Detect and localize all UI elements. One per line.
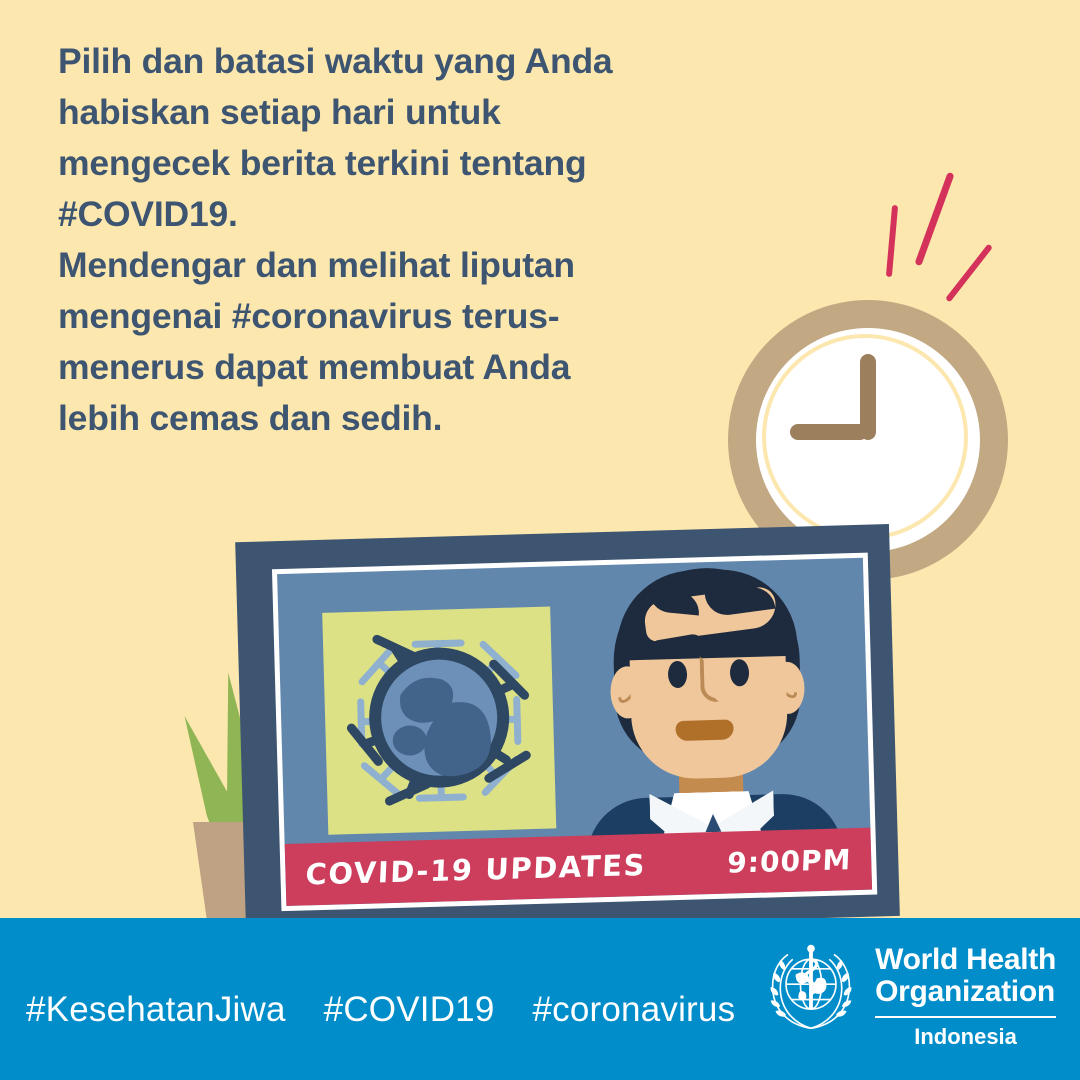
coronavirus-icon xyxy=(337,619,542,823)
clock-spark-line-2 xyxy=(914,172,954,266)
poster-canvas: Pilih dan batasi waktu yang Anda habiska… xyxy=(0,0,1080,1080)
clock-spark-line-1 xyxy=(886,205,898,277)
bottom-banner: #KesehatanJiwa #COVID19 #coronavirus xyxy=(0,918,1080,1080)
who-logo: World Health Organization Indonesia xyxy=(763,940,1056,1050)
news-anchor-figure xyxy=(555,564,863,862)
who-name-line-1: World Health xyxy=(875,944,1056,976)
hashtag-kesehatan-jiwa: #KesehatanJiwa xyxy=(26,990,286,1030)
news-ticker-bar: COVID-19 UPDATES 9:00PM xyxy=(285,828,873,906)
hashtag-covid19: #COVID19 xyxy=(324,990,495,1030)
television: COVID-19 UPDATES 9:00PM xyxy=(235,524,900,934)
who-divider xyxy=(875,1016,1056,1018)
who-name-line-2: Organization xyxy=(875,976,1056,1008)
who-emblem-icon xyxy=(763,940,859,1036)
headline-line-7: menerus dapat membuat Anda xyxy=(58,342,688,393)
headline-text: Pilih dan batasi waktu yang Anda habiska… xyxy=(58,36,688,444)
news-time-text: 9:00PM xyxy=(727,843,852,880)
headline-line-6: mengenai #coronavirus terus- xyxy=(58,291,688,342)
anchor-mouth xyxy=(675,719,734,741)
tv-bezel: COVID-19 UPDATES 9:00PM xyxy=(272,553,877,912)
headline-line-8: lebih cemas dan sedih. xyxy=(58,393,688,444)
virus-graphic-panel xyxy=(322,607,556,835)
hashtag-coronavirus: #coronavirus xyxy=(533,990,736,1030)
clock-spark-line-3 xyxy=(945,244,993,303)
headline-line-5: Mendengar dan melihat liputan xyxy=(58,240,688,291)
tv-screen: COVID-19 UPDATES 9:00PM xyxy=(277,558,872,906)
headline-line-4: #COVID19. xyxy=(58,189,688,240)
headline-line-2: habiskan setiap hari untuk xyxy=(58,87,688,138)
news-headline-text: COVID-19 UPDATES xyxy=(305,848,647,892)
clock-hour-hand xyxy=(790,424,868,440)
who-country-label: Indonesia xyxy=(875,1024,1056,1050)
hashtag-list: #KesehatanJiwa #COVID19 #coronavirus xyxy=(26,990,735,1030)
headline-line-1: Pilih dan batasi waktu yang Anda xyxy=(58,36,688,87)
headline-line-3: mengecek berita terkini tentang xyxy=(58,138,688,189)
who-wordmark: World Health Organization Indonesia xyxy=(875,940,1056,1050)
